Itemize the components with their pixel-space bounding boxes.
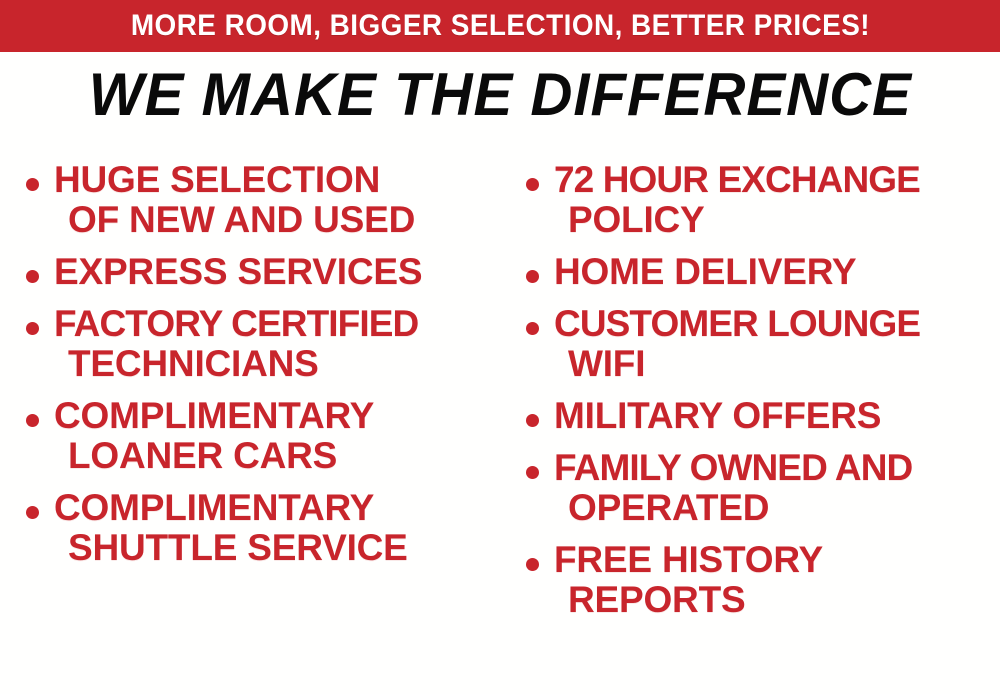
benefit-item-text: FREE HISTORYREPORTS: [554, 540, 1000, 620]
bullet-dot-icon: [526, 414, 539, 427]
headline: WE MAKE THE DIFFERENCE: [0, 62, 1000, 128]
benefit-item-line: 72 HOUR EXCHANGE: [554, 160, 1000, 200]
benefit-item-line: OPERATED: [554, 488, 1000, 528]
bullet-dot-icon: [26, 178, 39, 191]
benefit-item-text: EXPRESS SERVICES: [54, 252, 500, 292]
benefit-item: HOME DELIVERY: [518, 252, 1000, 292]
bullet-dot-icon: [526, 322, 539, 335]
headline-text: WE MAKE THE DIFFERENCE: [88, 62, 911, 128]
benefit-item-text: FAMILY OWNED ANDOPERATED: [554, 448, 1000, 528]
benefit-item: EXPRESS SERVICES: [18, 252, 500, 292]
promo-banner-text: MORE ROOM, BIGGER SELECTION, BETTER PRIC…: [130, 11, 869, 41]
benefit-item: FACTORY CERTIFIEDTECHNICIANS: [18, 304, 500, 384]
benefit-item-text: 72 HOUR EXCHANGEPOLICY: [554, 160, 1000, 240]
benefit-item-line: FAMILY OWNED AND: [554, 448, 1000, 488]
benefit-item-text: COMPLIMENTARYLOANER CARS: [54, 396, 500, 476]
benefit-item: COMPLIMENTARYSHUTTLE SERVICE: [18, 488, 500, 568]
benefit-item-text: MILITARY OFFERS: [554, 396, 1000, 436]
benefit-item-line: CUSTOMER LOUNGE: [554, 304, 1000, 344]
bullet-dot-icon: [526, 466, 539, 479]
benefit-item-line: LOANER CARS: [54, 436, 500, 476]
benefit-item-line: FACTORY CERTIFIED: [54, 304, 500, 344]
benefit-item-line: EXPRESS SERVICES: [54, 252, 500, 292]
benefit-item-line: HOME DELIVERY: [554, 252, 1000, 292]
benefits-column-left: HUGE SELECTIONOF NEW AND USEDEXPRESS SER…: [18, 160, 500, 580]
bullet-dot-icon: [526, 558, 539, 571]
benefit-item-line: MILITARY OFFERS: [554, 396, 1000, 436]
benefit-item-line: WIFI: [554, 344, 1000, 384]
bullet-dot-icon: [26, 506, 39, 519]
bullet-dot-icon: [526, 178, 539, 191]
benefit-item-text: CUSTOMER LOUNGEWIFI: [554, 304, 1000, 384]
benefit-item-text: COMPLIMENTARYSHUTTLE SERVICE: [54, 488, 500, 568]
benefits-column-right: 72 HOUR EXCHANGEPOLICYHOME DELIVERYCUSTO…: [518, 160, 1000, 632]
benefit-item-text: HUGE SELECTIONOF NEW AND USED: [54, 160, 500, 240]
benefit-item: COMPLIMENTARYLOANER CARS: [18, 396, 500, 476]
benefit-item-line: TECHNICIANS: [54, 344, 500, 384]
benefit-item-text: FACTORY CERTIFIEDTECHNICIANS: [54, 304, 500, 384]
benefit-item: CUSTOMER LOUNGEWIFI: [518, 304, 1000, 384]
benefit-item-line: OF NEW AND USED: [54, 200, 500, 240]
benefit-item: HUGE SELECTIONOF NEW AND USED: [18, 160, 500, 240]
bullet-dot-icon: [26, 414, 39, 427]
benefit-item: FAMILY OWNED ANDOPERATED: [518, 448, 1000, 528]
benefit-item: FREE HISTORYREPORTS: [518, 540, 1000, 620]
bullet-dot-icon: [26, 270, 39, 283]
benefit-item-line: FREE HISTORY: [554, 540, 1000, 580]
benefit-item-line: SHUTTLE SERVICE: [54, 528, 500, 568]
bullet-dot-icon: [526, 270, 539, 283]
benefit-item-text: HOME DELIVERY: [554, 252, 1000, 292]
benefit-item-line: HUGE SELECTION: [54, 160, 500, 200]
benefit-item-line: COMPLIMENTARY: [54, 396, 500, 436]
promo-banner: MORE ROOM, BIGGER SELECTION, BETTER PRIC…: [0, 0, 1000, 52]
benefit-item-line: REPORTS: [554, 580, 1000, 620]
benefit-item: 72 HOUR EXCHANGEPOLICY: [518, 160, 1000, 240]
benefit-item: MILITARY OFFERS: [518, 396, 1000, 436]
benefit-item-line: COMPLIMENTARY: [54, 488, 500, 528]
benefit-item-line: POLICY: [554, 200, 1000, 240]
bullet-dot-icon: [26, 322, 39, 335]
benefits-columns: HUGE SELECTIONOF NEW AND USEDEXPRESS SER…: [0, 160, 1000, 694]
